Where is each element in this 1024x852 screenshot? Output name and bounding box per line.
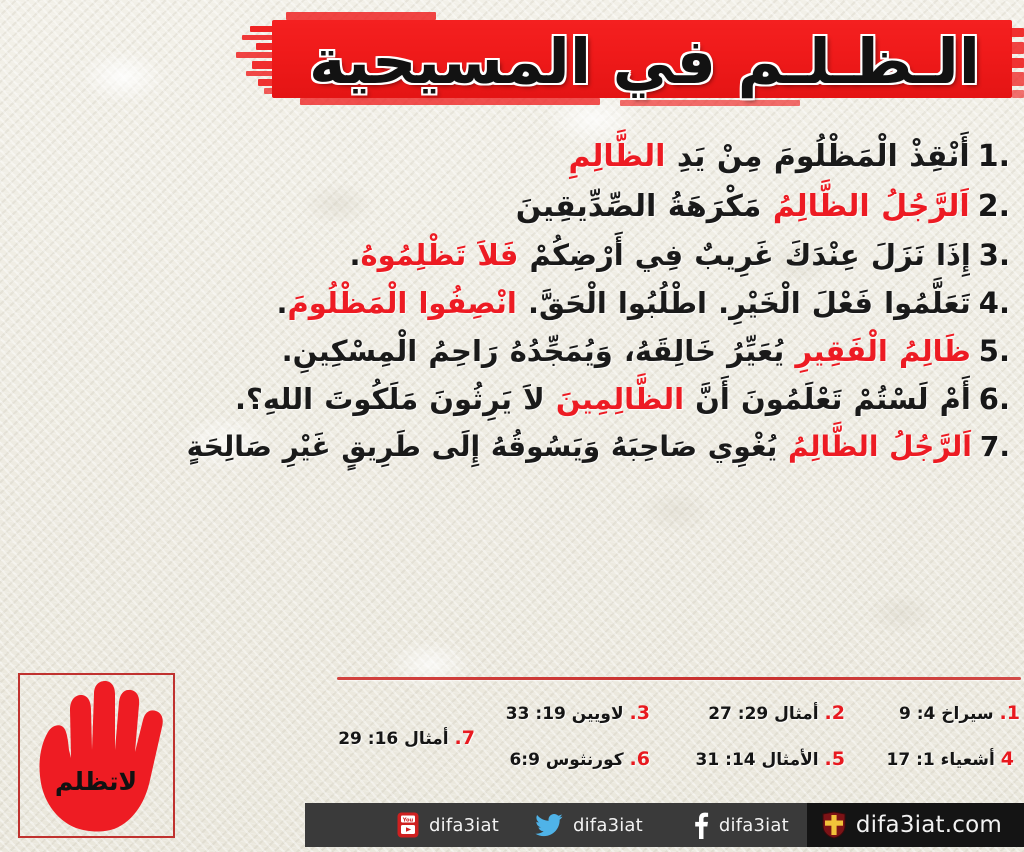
reference-number: 3. — [630, 702, 650, 724]
verse-item: 4. تَعَلَّمُوا فَعْلَ الْخَيْرِ. اطْلُبُ… — [12, 281, 1012, 325]
shield-cross-icon — [821, 811, 847, 839]
reference-text: لاويين 19: 33 — [506, 704, 624, 724]
reference-number: 7. — [455, 727, 475, 749]
page-title: الـظـلـم في المسيحية — [272, 18, 1017, 104]
verse-item: 2. اَلرَّجُلُ الظَّالِمُ مَكْرَهَةُ الصِ… — [12, 184, 1012, 230]
reference-list: 1. سيراخ 4: 9 2. أمثال 29: 27 3. لاويين … — [208, 690, 1020, 790]
reference-text: أمثال 16: 29 — [338, 729, 448, 749]
website-label: difa3iat.com — [856, 812, 1002, 838]
reference-text: أشعياء 1: 17 — [887, 750, 995, 770]
facebook-link[interactable]: difa3iat — [675, 803, 807, 847]
reference-text: أمثال 29: 27 — [708, 704, 818, 724]
youtube-label: difa3iat — [429, 815, 499, 836]
brush-flick — [242, 35, 276, 40]
reference-item: 3. لاويين 19: 33 — [506, 702, 650, 724]
verse-number: 3. — [971, 233, 1012, 277]
reference-item: 6. كورنثوس 6:9 — [509, 748, 650, 770]
reference-item: 2. أمثال 29: 27 — [708, 702, 845, 724]
reference-number: 1. — [1000, 702, 1020, 724]
facebook-icon — [693, 811, 709, 839]
poster-canvas: الـظـلـم في المسيحية 1. أَنْقِذْ الْمَظْ… — [0, 0, 1024, 852]
title-banner: الـظـلـم في المسيحية — [0, 8, 1024, 112]
verse-number: 2. — [970, 184, 1012, 230]
verse-item: 1. أَنْقِذْ الْمَظْلُومَ مِنْ يَدِ الظَّ… — [12, 134, 1012, 180]
verse-item: 5. ظَالِمُ الْفَقِيرِ يُعَيِّرُ خَالِقَه… — [12, 329, 1012, 373]
verse-item: 7. اَلرَّجُلُ الظَّالِمُ يُغْوِي صَاحِبَ… — [12, 426, 1012, 469]
svg-text:You: You — [402, 817, 414, 823]
website-link[interactable]: difa3iat.com — [807, 803, 1024, 847]
verse-number: 5. — [971, 329, 1012, 373]
reference-item: 1. سيراخ 4: 9 — [899, 702, 1020, 724]
reference-item: 4 أشعياء 1: 17 — [887, 748, 1014, 770]
verse-text: أَنْقِذْ الْمَظْلُومَ مِنْ يَدِ الظَّالِ… — [12, 134, 970, 180]
no-oppression-logo: لاتظلم لاتظلم — [18, 673, 175, 838]
verse-text: أَمْ لَسْتُمْ تَعْلَمُونَ أَنَّ الظَّالِ… — [12, 377, 971, 421]
verse-text: اَلرَّجُلُ الظَّالِمُ يُغْوِي صَاحِبَهُ … — [12, 426, 972, 469]
verse-item: 6. أَمْ لَسْتُمْ تَعْلَمُونَ أَنَّ الظَّ… — [12, 377, 1012, 421]
twitter-icon — [535, 813, 563, 837]
verse-text: ظَالِمُ الْفَقِيرِ يُعَيِّرُ خَالِقَهُ، … — [12, 329, 971, 373]
verse-number: 1. — [970, 134, 1012, 180]
youtube-link[interactable]: You difa3iat — [379, 803, 517, 847]
facebook-label: difa3iat — [719, 815, 789, 836]
verse-number: 7. — [972, 426, 1012, 469]
reference-text: الأمثال 14: 31 — [696, 750, 819, 770]
open-hand-icon: لاتظلم — [26, 680, 169, 832]
hand-label-text: لاتظلم — [55, 767, 137, 796]
reference-number: 5. — [825, 748, 845, 770]
section-divider — [337, 677, 1021, 680]
youtube-icon: You — [397, 812, 419, 838]
reference-item: 7. أمثال 16: 29 — [338, 727, 475, 749]
reference-text: كورنثوس 6:9 — [509, 750, 623, 770]
twitter-link[interactable]: difa3iat — [517, 803, 661, 847]
verse-item: 3. إِذَا نَزَلَ عِنْدَكَ غَرِيبٌ فِي أَر… — [12, 233, 1012, 277]
reference-number: 6. — [630, 748, 650, 770]
verse-number: 4. — [971, 281, 1012, 325]
verse-number: 6. — [971, 377, 1012, 421]
verse-text: إِذَا نَزَلَ عِنْدَكَ غَرِيبٌ فِي أَرْضِ… — [12, 233, 971, 277]
twitter-label: difa3iat — [573, 815, 643, 836]
reference-number: 2. — [825, 702, 845, 724]
verse-text: اَلرَّجُلُ الظَّالِمُ مَكْرَهَةُ الصِّدِ… — [12, 184, 970, 230]
verse-text: تَعَلَّمُوا فَعْلَ الْخَيْرِ. اطْلُبُوا … — [12, 281, 971, 325]
footer-bar: difa3iat.com difa3iat difa3iat You difa3… — [305, 803, 1024, 847]
reference-number: 4 — [1001, 748, 1014, 770]
reference-item: 5. الأمثال 14: 31 — [696, 748, 845, 770]
reference-text: سيراخ 4: 9 — [899, 704, 994, 724]
verse-list: 1. أَنْقِذْ الْمَظْلُومَ مِنْ يَدِ الظَّ… — [12, 134, 1012, 472]
